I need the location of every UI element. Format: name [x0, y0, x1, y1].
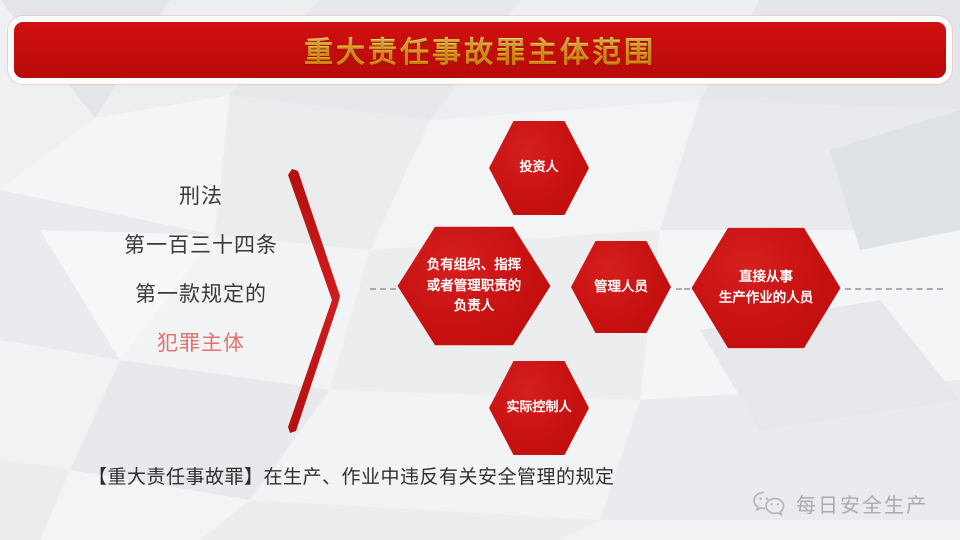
bottom-caption: 【重大责任事故罪】在生产、作业中违反有关安全管理的规定 — [88, 462, 615, 489]
hexagon-actual-controller-line-1: 实际控制人 — [506, 398, 571, 418]
hexagon-direct-worker[interactable]: 直接从事 生产作业的人员 — [690, 224, 842, 352]
title-banner: 重大责任事故罪主体范围 — [14, 22, 946, 78]
chevron-right-arrow-icon — [282, 165, 352, 435]
hexagon-responsible-person-line-2: 或者管理职责的 — [427, 276, 522, 297]
hexagon-actual-controller[interactable]: 实际控制人 — [488, 358, 590, 458]
hexagon-responsible-person[interactable]: 负有组织、指挥 或者管理职责的 负责人 — [396, 223, 552, 349]
hexagon-management-staff[interactable]: 管理人员 — [570, 238, 672, 336]
wechat-icon — [752, 490, 786, 518]
slide-canvas: 重大责任事故罪主体范围 刑法 第一百三十四条 第一款规定的 犯罪主体 投资人 负… — [0, 0, 960, 540]
legal-line-clause: 第一款规定的 — [96, 284, 306, 305]
legal-reference-column: 刑法 第一百三十四条 第一款规定的 犯罪主体 — [96, 186, 306, 354]
legal-line-law: 刑法 — [96, 186, 306, 207]
hexagon-investor[interactable]: 投资人 — [488, 118, 590, 218]
hexagon-direct-worker-line-2: 生产作业的人员 — [719, 288, 814, 309]
hexagon-cluster: 投资人 负有组织、指挥 或者管理职责的 负责人 管理人员 直接从事 生产作业的人… — [350, 100, 950, 470]
hexagon-responsible-person-line-1: 负有组织、指挥 — [427, 255, 522, 276]
hexagon-management-staff-line-1: 管理人员 — [594, 277, 648, 298]
hexagon-responsible-person-line-3: 负责人 — [454, 296, 495, 317]
watermark-label: 每日安全生产 — [796, 489, 928, 518]
legal-line-subject: 犯罪主体 — [96, 333, 306, 354]
legal-line-article: 第一百三十四条 — [96, 235, 306, 256]
page-title: 重大责任事故罪主体范围 — [304, 29, 656, 71]
watermark: 每日安全生产 — [752, 489, 928, 518]
hexagon-investor-line-1: 投资人 — [519, 158, 558, 178]
hexagon-direct-worker-line-1: 直接从事 — [739, 267, 793, 288]
